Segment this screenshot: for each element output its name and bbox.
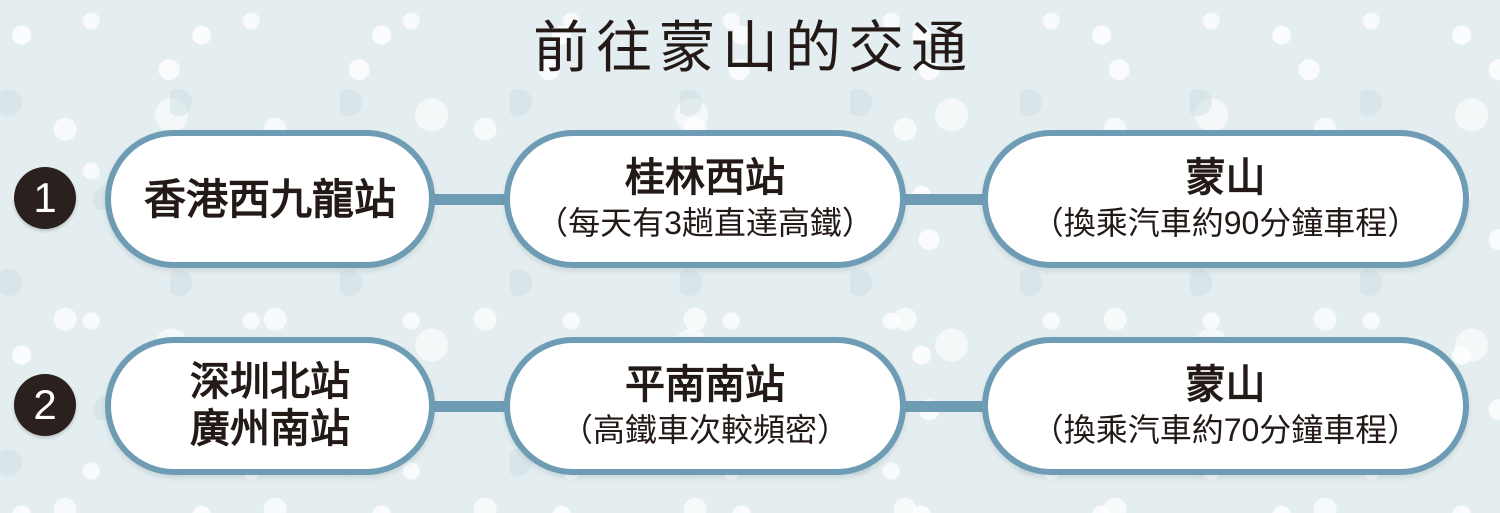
diagram-canvas: 前往蒙山的交通 1 香港西九龍站 桂林西站 （每天有3趟直達高鐵） 蒙山 （換乘… — [0, 0, 1500, 513]
node-route1-transfer[interactable]: 桂林西站 （每天有3趟直達高鐵） — [504, 130, 906, 268]
connector-2-b — [900, 401, 988, 412]
node-title: 香港西九龍站 — [144, 176, 396, 223]
connector-1-a — [424, 194, 514, 205]
node-route2-destination[interactable]: 蒙山 （換乘汽車約70分鐘車程） — [982, 337, 1469, 475]
connector-1-b — [900, 194, 988, 205]
node-route2-transfer[interactable]: 平南南站 （高鐵車次較頻密） — [504, 337, 906, 475]
node-subtitle: （高鐵車次較頻密） — [561, 410, 849, 450]
node-title-line2: 廣州南站 — [190, 406, 350, 453]
node-title: 蒙山 — [1186, 362, 1266, 409]
node-title: 平南南站 — [625, 362, 785, 409]
node-subtitle: （換乘汽車約90分鐘車程） — [1032, 203, 1420, 243]
node-subtitle: （每天有3趟直達高鐵） — [536, 203, 874, 243]
node-route1-origin[interactable]: 香港西九龍站 — [105, 130, 435, 268]
route-marker-2: 2 — [14, 374, 76, 436]
route-marker-1: 1 — [14, 167, 76, 229]
route-row-2: 2 深圳北站 廣州南站 平南南站 （高鐵車次較頻密） 蒙山 （換乘汽車約70分鐘… — [0, 337, 1500, 477]
route-row-1: 1 香港西九龍站 桂林西站 （每天有3趟直達高鐵） 蒙山 （換乘汽車約90分鐘車… — [0, 130, 1500, 270]
node-route2-origin[interactable]: 深圳北站 廣州南站 — [105, 337, 435, 475]
node-title: 蒙山 — [1186, 155, 1266, 202]
page-title: 前往蒙山的交通 — [0, 14, 1500, 84]
node-title: 桂林西站 — [625, 155, 785, 202]
node-route1-destination[interactable]: 蒙山 （換乘汽車約90分鐘車程） — [982, 130, 1469, 268]
connector-2-a — [424, 401, 514, 412]
node-subtitle: （換乘汽車約70分鐘車程） — [1032, 410, 1420, 450]
node-title: 深圳北站 — [190, 359, 350, 406]
